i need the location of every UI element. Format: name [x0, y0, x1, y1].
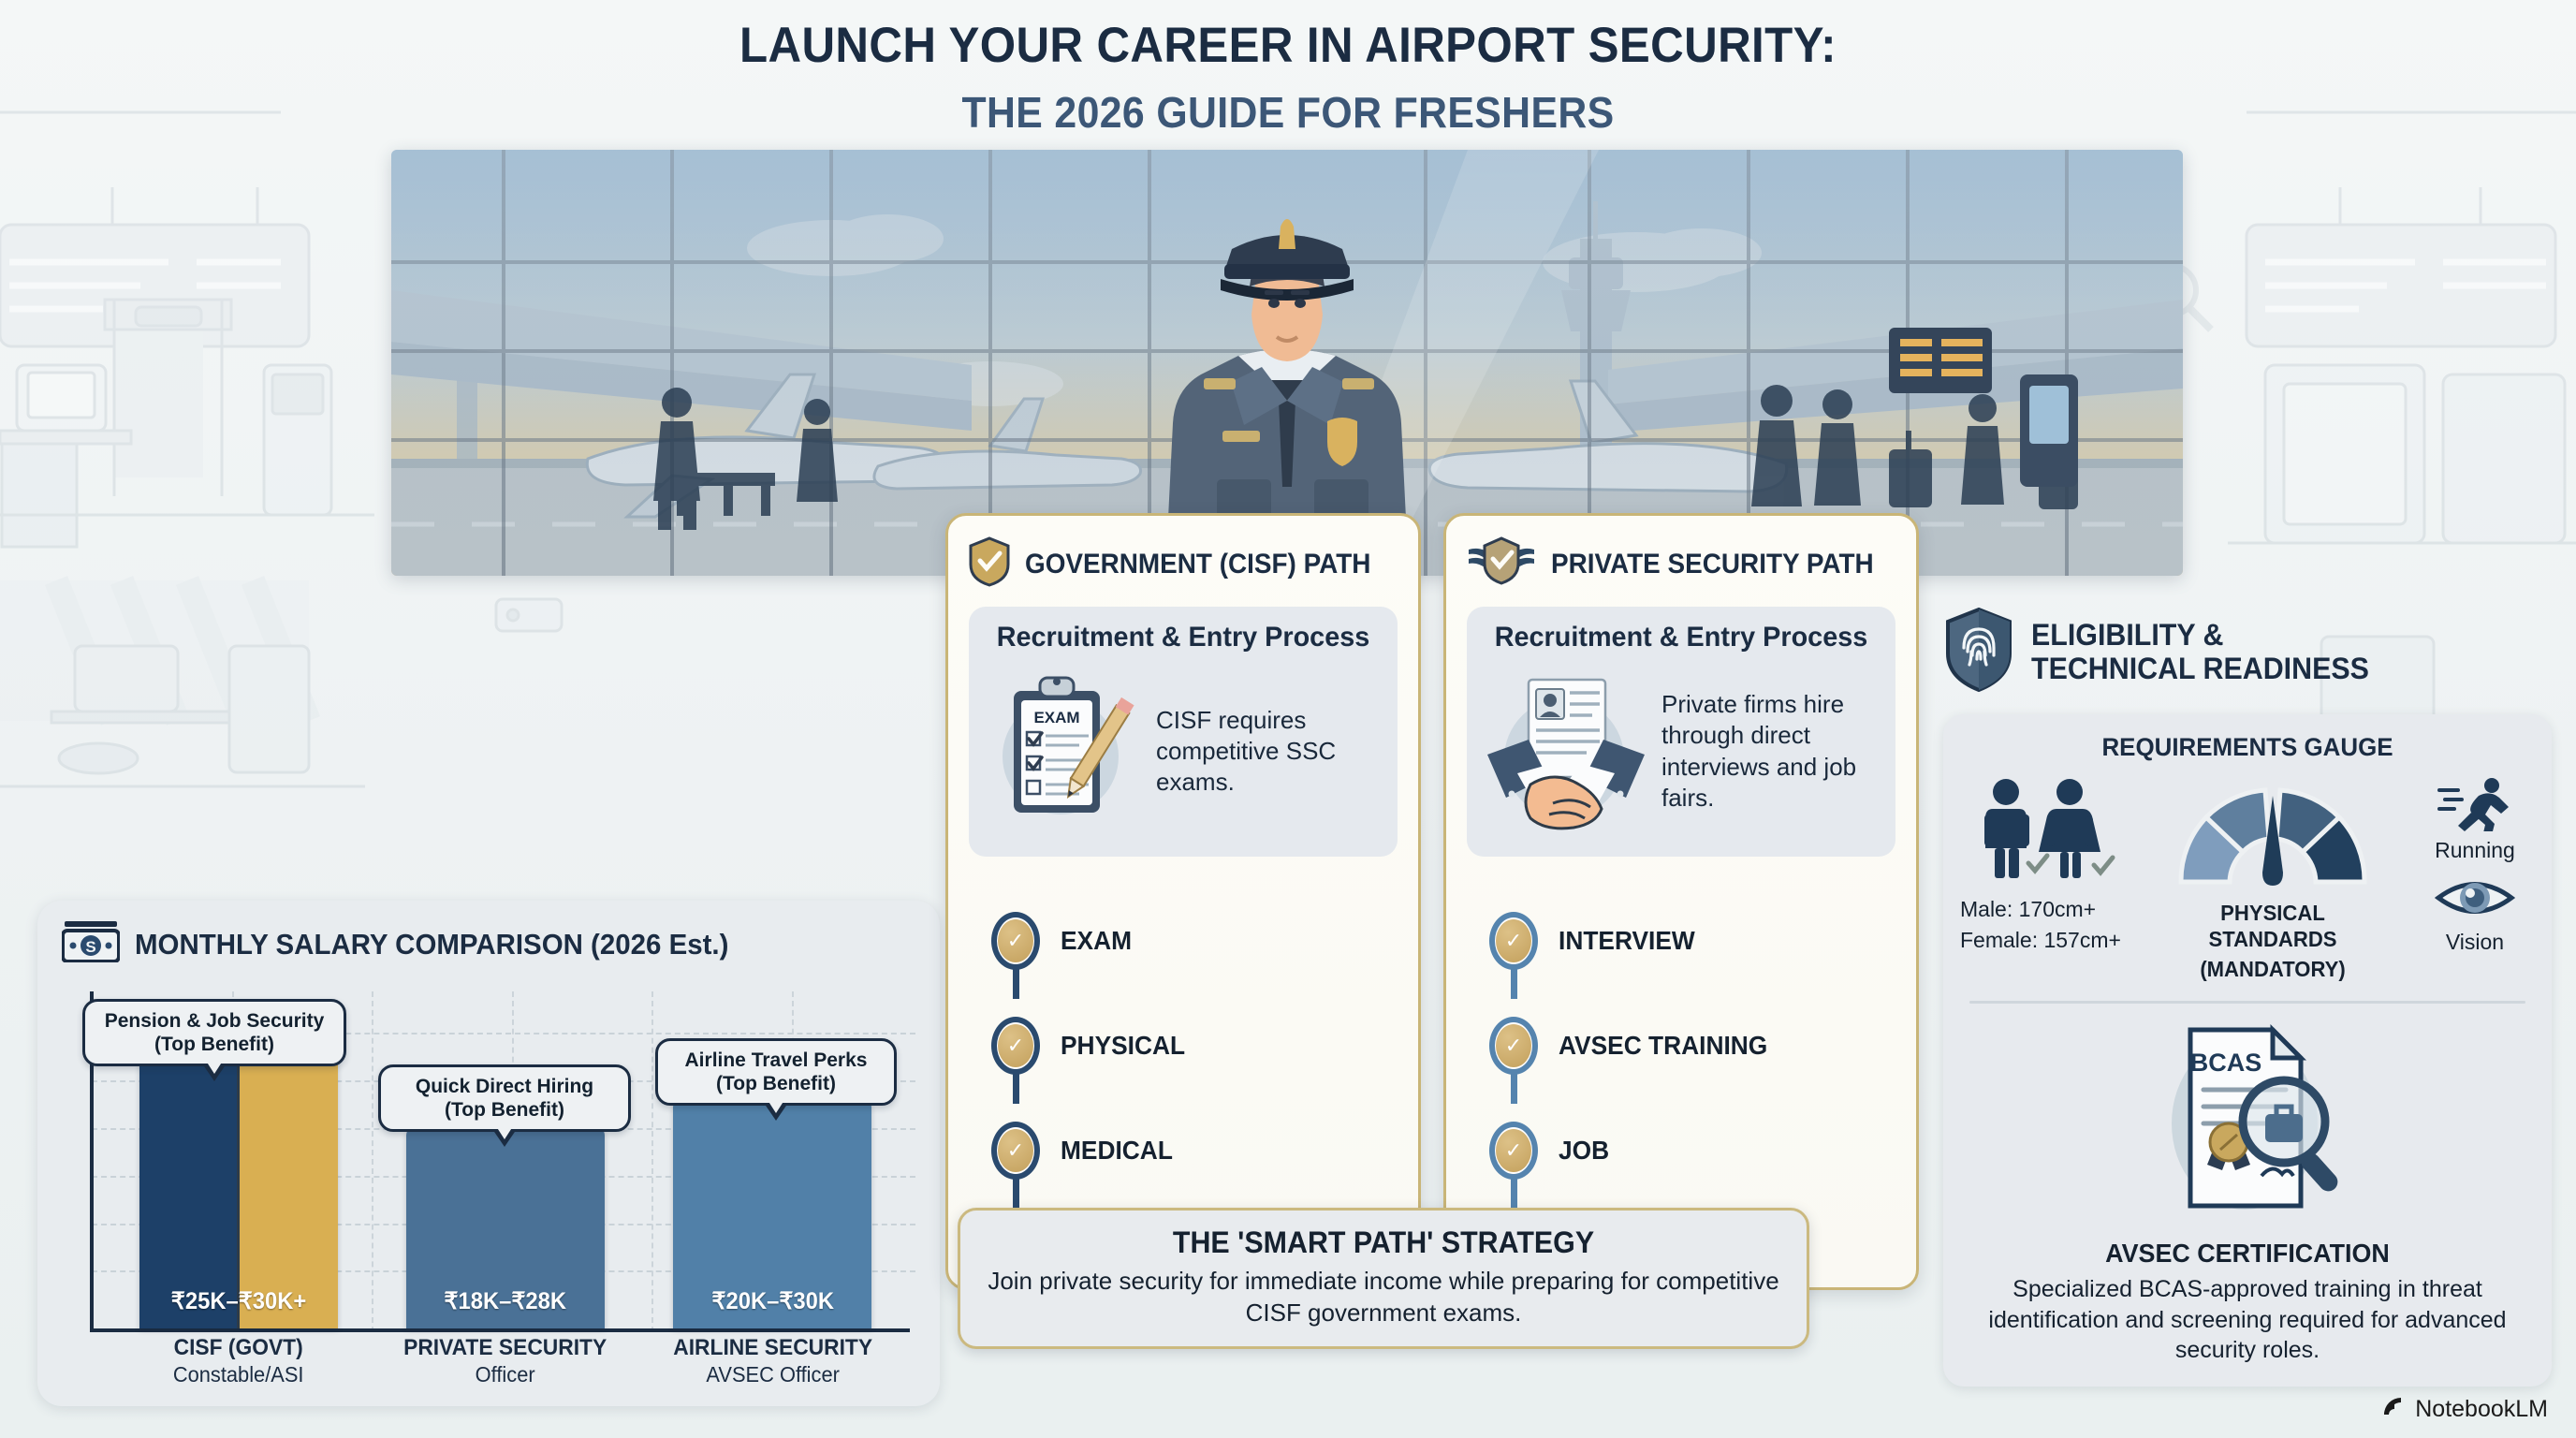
chart-x-axis [90, 1328, 910, 1332]
career-paths: GOVERNMENT (CISF) PATH Recruitment & Ent… [945, 513, 1919, 1412]
salary-panel-title: MONTHLY SALARY COMPARISON (2026 Est.) [135, 928, 728, 961]
category-2-line-2: Officer [378, 1361, 632, 1388]
bar-cisf: ₹25K–₹30K+ [139, 1055, 338, 1328]
step-label: JOB [1559, 1136, 1609, 1166]
running-vision-group: Running Vision [2415, 777, 2535, 955]
category-2-line-1: PRIVATE SECURITY [378, 1334, 632, 1362]
smart-path-title: THE 'SMART PATH' STRATEGY [1003, 1225, 1764, 1260]
step-marker-icon: ✓ [1489, 1017, 1538, 1075]
handshake-resume-icon [1484, 665, 1648, 838]
government-path-title: GOVERNMENT (CISF) PATH [1025, 549, 1370, 580]
salary-bar-chart: Pension & Job Security (Top Benefit) Qui… [62, 991, 915, 1385]
salary-panel-header: S MONTHLY SALARY COMPARISON (2026 Est.) [62, 921, 915, 967]
government-process-text: CISF requires competitive SSC exams. [1156, 705, 1381, 799]
svg-text:EXAM: EXAM [1033, 709, 1079, 726]
vision-label: Vision [2415, 930, 2535, 955]
smart-path-box: THE 'SMART PATH' STRATEGY Join private s… [958, 1208, 1809, 1349]
private-path-header: PRIVATE SECURITY PATH [1446, 516, 1916, 592]
male-female-figures-icon [1967, 875, 2124, 891]
height-requirement: Male: 170cm+ Female: 157cm+ [1960, 777, 2130, 954]
category-2: PRIVATE SECURITY Officer [372, 1334, 638, 1388]
bar-airline: ₹20K–₹30K [673, 1098, 871, 1328]
bar-col-2: ₹18K–₹28K [372, 1126, 638, 1328]
step-label: INTERVIEW [1559, 926, 1695, 956]
watermark-label: NotebookLM [2415, 1396, 2548, 1423]
notebooklm-icon [2380, 1394, 2407, 1425]
bar-value-2: ₹18K–₹28K [445, 1287, 567, 1328]
step-label: MEDICAL [1061, 1136, 1173, 1166]
avsec-text: Specialized BCAS-approved training in th… [1960, 1274, 2535, 1366]
svg-text:S: S [85, 938, 95, 956]
government-process-body: EXAM [986, 665, 1381, 838]
callout-2-line-2: (Top Benefit) [394, 1098, 615, 1122]
category-3-line-1: AIRLINE SECURITY [646, 1334, 900, 1362]
svg-text:BCAS: BCAS [2190, 1049, 2262, 1077]
callout-1-line-2: (Top Benefit) [98, 1033, 330, 1056]
gauge-meter-icon [2168, 879, 2378, 895]
category-1-line-2: Constable/ASI [111, 1361, 365, 1388]
running-person-icon [2437, 819, 2512, 835]
requirements-gauge-row: Male: 170cm+ Female: 157cm+ [1960, 777, 2535, 982]
salary-comparison-panel: S MONTHLY SALARY COMPARISON (2026 Est.) … [37, 901, 940, 1406]
private-process-title: Recruitment & Entry Process [1491, 622, 1870, 653]
private-steps: ✓ INTERVIEW ✓ AVSEC TRAINING ✓ JOB [1489, 888, 1916, 1203]
bar-private: ₹18K–₹28K [406, 1126, 605, 1328]
step-label: AVSEC TRAINING [1559, 1031, 1767, 1061]
private-process-body: Private firms hire through direct interv… [1484, 665, 1879, 838]
running-label: Running [2415, 838, 2535, 863]
step-medical[interactable]: ✓ MEDICAL [991, 1098, 1418, 1203]
callout-bar-2: Quick Direct Hiring (Top Benefit) [378, 1064, 631, 1132]
government-steps: ✓ EXAM ✓ PHYSICAL ✓ MEDICAL [991, 888, 1418, 1203]
bar-value-1: ₹25K–₹30K+ [170, 1287, 305, 1328]
avsec-certification: BCAS [1960, 1019, 2535, 1366]
physical-standards-line-2: (MANDATORY) [2161, 956, 2384, 982]
callout-3-line-1: Airline Travel Perks [671, 1049, 881, 1072]
step-label: PHYSICAL [1061, 1031, 1185, 1061]
clipboard-exam-icon: EXAM [986, 665, 1143, 838]
eligibility-title: ELIGIBILITY & TECHNICAL READINESS [2031, 619, 2369, 686]
eligibility-panel: ELIGIBILITY & TECHNICAL READINESS REQUIR… [1943, 607, 2552, 1408]
callout-bar-1: Pension & Job Security (Top Benefit) [82, 999, 346, 1066]
step-marker-icon: ✓ [991, 1122, 1040, 1180]
step-marker-icon: ✓ [1489, 912, 1538, 970]
requirements-gauge-title: REQUIREMENTS GAUGE [1971, 733, 2523, 762]
bar-col-3: ₹20K–₹30K [639, 1098, 906, 1328]
infographic-root: Launch Your Career in Airport Security: … [0, 0, 2576, 1438]
government-process-title: Recruitment & Entry Process [993, 622, 1372, 653]
title-line-2: The 2026 Guide for Freshers [90, 87, 2485, 138]
category-3-line-2: AVSEC Officer [646, 1361, 900, 1388]
callout-2-line-1: Quick Direct Hiring [394, 1075, 615, 1098]
money-note-icon: S [62, 921, 120, 967]
page-title: Launch Your Career in Airport Security: … [0, 17, 2576, 138]
section-divider [1969, 1001, 2525, 1004]
eligibility-title-line-2: TECHNICAL READINESS [2031, 652, 2369, 685]
height-male: Male: 170cm+ [1960, 896, 2130, 923]
watermark: NotebookLM [2380, 1394, 2548, 1425]
eligibility-header: ELIGIBILITY & TECHNICAL READINESS [1943, 607, 2552, 697]
eligibility-title-line-1: ELIGIBILITY & [2031, 618, 2223, 652]
title-line-1: Launch Your Career in Airport Security: [90, 17, 2485, 74]
bar-value-3: ₹20K–₹30K [711, 1287, 834, 1328]
winged-shield-icon [1467, 536, 1536, 592]
government-path-header: GOVERNMENT (CISF) PATH [948, 516, 1418, 592]
step-interview[interactable]: ✓ INTERVIEW [1489, 888, 1916, 993]
category-1-line-1: CISF (GOVT) [111, 1334, 365, 1362]
category-1: CISF (GOVT) Constable/ASI [105, 1334, 372, 1388]
shield-check-icon [969, 536, 1010, 592]
step-exam[interactable]: ✓ EXAM [991, 888, 1418, 993]
callout-bar-3: Airline Travel Perks (Top Benefit) [655, 1038, 897, 1106]
step-marker-icon: ✓ [1489, 1122, 1538, 1180]
avsec-title: AVSEC CERTIFICATION [1971, 1239, 2523, 1269]
step-marker-icon: ✓ [991, 912, 1040, 970]
callout-1-line-1: Pension & Job Security [98, 1009, 330, 1033]
physical-standards-line-1: PHYSICAL STANDARDS [2161, 900, 2384, 952]
private-process-box: Recruitment & Entry Process [1467, 607, 1895, 857]
step-avsec-training[interactable]: ✓ AVSEC TRAINING [1489, 993, 1916, 1098]
chart-category-labels: CISF (GOVT) Constable/ASI PRIVATE SECURI… [105, 1334, 906, 1388]
category-3: AIRLINE SECURITY AVSEC Officer [639, 1334, 906, 1388]
bcas-certificate-magnifier-icon: BCAS [2145, 1214, 2349, 1230]
height-female: Female: 157cm+ [1960, 927, 2130, 954]
physical-standards: PHYSICAL STANDARDS (MANDATORY) [2157, 777, 2389, 982]
government-process-box: Recruitment & Entry Process EXAM [969, 607, 1398, 857]
private-path-card: PRIVATE SECURITY PATH Recruitment & Entr… [1443, 513, 1919, 1290]
shield-fingerprint-icon [1943, 607, 2014, 697]
callout-3-line-2: (Top Benefit) [671, 1072, 881, 1095]
government-path-card: GOVERNMENT (CISF) PATH Recruitment & Ent… [945, 513, 1421, 1290]
step-marker-icon: ✓ [991, 1017, 1040, 1075]
step-label: EXAM [1061, 926, 1132, 956]
eye-icon [2435, 873, 2515, 928]
step-physical[interactable]: ✓ PHYSICAL [991, 993, 1418, 1098]
requirements-card: REQUIREMENTS GAUGE [1943, 714, 2552, 1387]
smart-path-text: Join private security for immediate inco… [983, 1266, 1784, 1329]
hero-image [391, 150, 2183, 576]
private-process-text: Private firms hire through direct interv… [1661, 689, 1879, 814]
step-job[interactable]: ✓ JOB [1489, 1098, 1916, 1203]
private-path-title: PRIVATE SECURITY PATH [1551, 549, 1874, 580]
bar-col-1: ₹25K–₹30K+ [105, 1055, 372, 1328]
